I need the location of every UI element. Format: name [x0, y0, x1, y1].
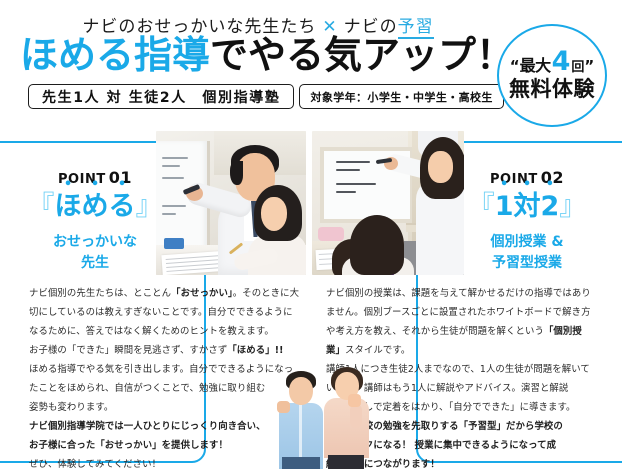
photo-row	[156, 131, 464, 275]
right-copy-line-3b: 「個別授	[544, 326, 582, 337]
left-copy-line-4: お子様の「できた」瞬間を見逃さず、すかさず「ほめる」!!	[29, 341, 304, 360]
bracket-close-icon: 』	[559, 191, 586, 222]
tag-target-grade-label: 対象学年：小学生・中学生・高校生	[310, 89, 492, 105]
left-copy-line-9: お子様に合った「おせっかい」を提供します！	[29, 436, 304, 455]
point-02-char-3: 2	[541, 191, 560, 222]
point-01-subtitle: おせっかいな 先生	[20, 232, 170, 274]
point-02-subtitle-line2: 予習型授業	[452, 253, 602, 274]
photo-teacher-whiteboard-student	[156, 131, 306, 275]
right-copy-line-3a: や考え方を教え、それから生徒が問題を解くという	[326, 326, 544, 337]
point-02-subtitle: 個別授業 & 予習型授業	[452, 232, 602, 274]
point-01-block: POINT01 『ほめる』 おせっかいな 先生	[20, 168, 170, 274]
left-body-copy: ナビ個別の先生たちは、とことん「おせっかい」。そのときに大 切にしているのは教え…	[29, 284, 304, 469]
quote-open-mark: “	[510, 59, 520, 74]
right-copy-line-4: 業」スタイルです。	[326, 341, 606, 360]
left-copy-line-9-text: お子様に合った「おせっかい」を提供します！	[29, 440, 228, 451]
header-main-part1: ほめる指導	[20, 33, 210, 77]
header-tag-bar: 先生1人 対 生徒2人 個別指導塾 対象学年：小学生・中学生・高校生	[28, 84, 504, 109]
point-02-char-1: 1	[495, 191, 514, 222]
photo-woman-fist-pump	[322, 368, 370, 469]
left-copy-line-1: ナビ個別の先生たちは、とことん「おせっかい」。そのときに大	[29, 284, 304, 303]
free-trial-badge-top: “最大4回”	[510, 51, 595, 74]
left-copy-line-2: 切にしているのは教えすぎないことです。自分でできるように	[29, 303, 304, 322]
quote-close-mark: ”	[584, 59, 594, 74]
point-01-char-3: る	[109, 191, 136, 222]
right-copy-line-2: ません。個別ブースごとに設置されたホワイトボードで解き方	[326, 303, 606, 322]
badge-max-label: 最大	[520, 58, 551, 74]
badge-title: 無料体験	[509, 79, 595, 100]
header-main-part2: で	[210, 33, 248, 77]
point-01-char-1: ほ	[55, 191, 82, 222]
right-copy-line-4b: スタイルです。	[345, 345, 410, 356]
point-01-subtitle-line1: おせっかいな	[20, 232, 170, 253]
point-01-subtitle-line2: 先生	[20, 253, 170, 274]
bottom-people-photos	[278, 368, 370, 469]
free-trial-badge: “最大4回” 無料体験	[497, 24, 607, 127]
point-01-char-2: め	[82, 191, 109, 222]
bracket-open-icon: 『	[468, 191, 495, 222]
left-copy-line-10: ぜひ、体験してみてください！	[29, 455, 304, 469]
left-copy-line-6: たことをほめられ、自信がつくことで、勉強に取り組む	[29, 379, 304, 398]
point-02-title: 『1対2』	[452, 190, 602, 224]
photo-teacher-writing-two-students	[312, 131, 464, 275]
badge-count-unit: 回	[571, 61, 584, 74]
left-copy-line-3: なるために、答えではなく解くためのヒントを教えます。	[29, 322, 304, 341]
advertisement-page: ナビのおせっかいな先生たち✕ナビの予習 ほめる指導でやる気アップ！ 先生1人 対…	[0, 0, 622, 469]
tag-student-ratio: 先生1人 対 生徒2人 個別指導塾	[28, 84, 294, 109]
left-copy-line-1a: ナビ個別の先生たちは、とことん	[29, 288, 171, 299]
left-copy-line-4b: 「ほめる」!!	[227, 345, 283, 356]
right-copy-line-3: や考え方を教え、それから生徒が問題を解くという「個別授	[326, 322, 606, 341]
left-copy-line-5: ほめる指導でやる気を引き出します。自分でできるようになっ	[29, 360, 304, 379]
left-copy-line-4a: お子様の「できた」瞬間を見逃さず、すかさず	[29, 345, 227, 356]
header-main-title: ほめる指導でやる気アップ！	[20, 35, 490, 77]
right-copy-line-4a: 業」	[326, 345, 345, 356]
right-copy-line-1: ナビ個別の授業は、課題を与えて解かせるだけの指導ではあり	[326, 284, 606, 303]
tag-student-ratio-label: 先生1人 対 生徒2人 個別指導塾	[42, 87, 280, 107]
left-copy-line-8: ナビ個別指導学院では一人ひとりにじっくり向き合い、	[29, 417, 304, 436]
point-01-title: 『ほめる』	[20, 190, 170, 224]
photo-man-fist-pump	[278, 371, 324, 469]
left-copy-line-1b: 「おせっかい」	[171, 288, 233, 299]
left-copy-line-1c: 。そのときに大	[233, 288, 299, 299]
left-copy-line-8-text: ナビ個別指導学院では一人ひとりにじっくり向き合い、	[29, 421, 266, 432]
point-02-block: POINT02 『1対2』 個別授業 & 予習型授業	[452, 168, 602, 274]
tag-target-grade: 対象学年：小学生・中学生・高校生	[299, 84, 503, 109]
header-main-part3: やる気アップ！	[248, 33, 514, 77]
left-copy-line-7: 姿勢も変わります。	[29, 398, 304, 417]
point-02-char-2: 対	[514, 191, 541, 222]
badge-count-number: 4	[552, 51, 571, 74]
point-02-subtitle-line1: 個別授業 &	[452, 232, 602, 253]
bracket-open-icon: 『	[28, 191, 55, 222]
